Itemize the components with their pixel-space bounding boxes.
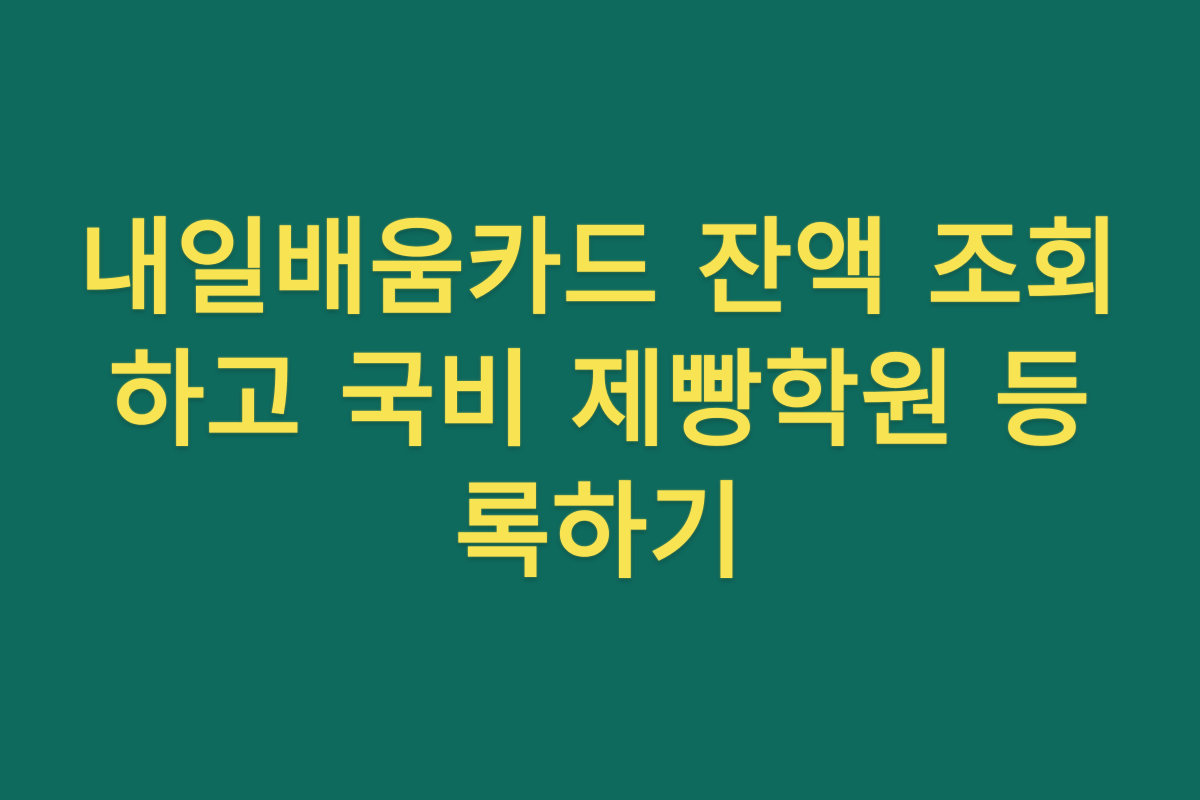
title-line-2: 하고 국비 제빵학원 등 [70, 334, 1130, 466]
title-text-block: 내일배움카드 잔액 조회 하고 국비 제빵학원 등 록하기 [0, 0, 1200, 800]
title-line-3: 록하기 [70, 466, 1130, 598]
title-card-canvas: 내일배움카드 잔액 조회 하고 국비 제빵학원 등 록하기 [0, 0, 1200, 800]
title-line-1: 내일배움카드 잔액 조회 [70, 202, 1130, 334]
